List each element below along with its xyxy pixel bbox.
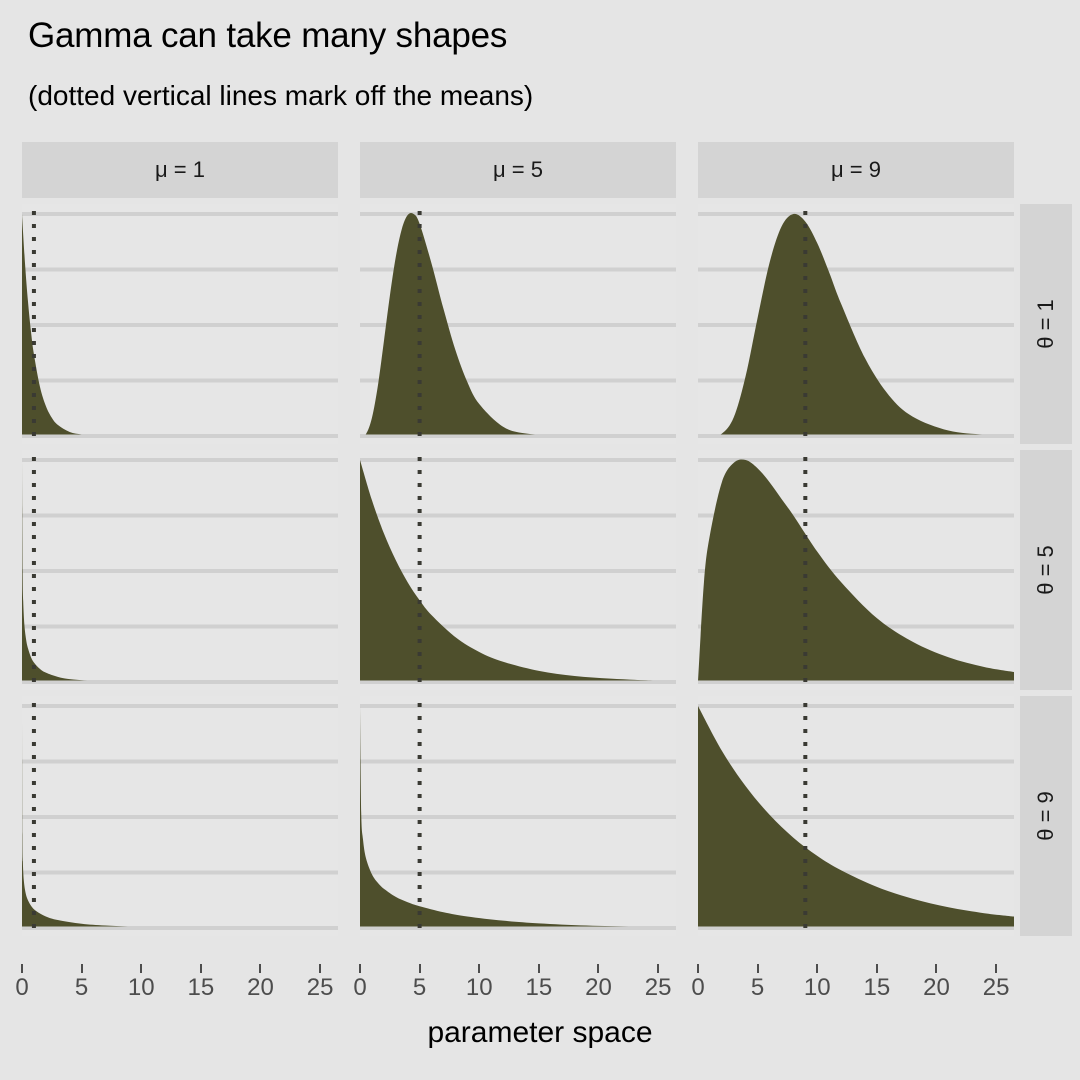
facet-panel-r2-c1 <box>360 696 676 936</box>
density-plot <box>360 204 676 444</box>
x-tick-mark <box>259 964 261 973</box>
gridline <box>22 871 338 875</box>
facet-row-strip-label: θ = 1 <box>1033 299 1059 349</box>
x-tick-mark <box>140 964 142 973</box>
gridline <box>22 268 338 272</box>
gridlines <box>22 704 338 930</box>
x-axis-title: parameter space <box>0 1016 1080 1050</box>
x-tick-label: 25 <box>645 974 672 1002</box>
gridlines <box>22 458 338 684</box>
baseline <box>22 435 338 438</box>
x-tick-mark <box>657 964 659 973</box>
x-tick-label: 15 <box>188 974 215 1002</box>
facet-col-strip-2: μ = 9 <box>698 142 1014 198</box>
baseline <box>360 927 676 930</box>
facet-panel-r1-c1 <box>360 450 676 690</box>
gridline <box>22 458 338 462</box>
x-tick-label: 10 <box>466 974 493 1002</box>
x-tick-label: 0 <box>15 974 28 1002</box>
gridline <box>22 379 338 383</box>
facet-panel-r1-c2 <box>698 450 1014 690</box>
facet-panel-r2-c0 <box>22 696 338 936</box>
x-tick-label: 10 <box>128 974 155 1002</box>
gridline <box>698 212 1014 216</box>
facet-row-strip-label: θ = 5 <box>1033 545 1059 595</box>
x-tick-mark <box>757 964 759 973</box>
gridline <box>22 569 338 573</box>
x-axis-col-2: 0510152025 <box>698 964 1014 1008</box>
x-tick-mark <box>478 964 480 973</box>
density-plot <box>22 696 338 936</box>
x-tick-mark <box>816 964 818 973</box>
x-tick-mark <box>597 964 599 973</box>
x-tick-mark <box>81 964 83 973</box>
baseline <box>22 927 338 930</box>
x-tick-mark <box>935 964 937 973</box>
gridline <box>698 760 1014 764</box>
gridline <box>360 760 676 764</box>
x-tick-label: 0 <box>353 974 366 1002</box>
gridline <box>22 704 338 708</box>
gridline <box>360 871 676 875</box>
x-tick-mark <box>21 964 23 973</box>
x-tick-label: 5 <box>751 974 764 1002</box>
facet-grid: μ = 1μ = 5μ = 9θ = 1θ = 5θ = 9 <box>22 142 1060 964</box>
page-subtitle: (dotted vertical lines mark off the mean… <box>28 80 533 112</box>
baseline <box>698 681 1014 684</box>
x-tick-label: 15 <box>864 974 891 1002</box>
x-tick-label: 20 <box>585 974 612 1002</box>
x-tick-mark <box>876 964 878 973</box>
x-tick-mark <box>419 964 421 973</box>
x-tick-label: 20 <box>923 974 950 1002</box>
x-tick-label: 25 <box>307 974 334 1002</box>
page-title: Gamma can take many shapes <box>28 16 507 56</box>
facet-col-strip-0: μ = 1 <box>22 142 338 198</box>
facet-panel-r1-c0 <box>22 450 338 690</box>
density-plot <box>698 450 1014 690</box>
facet-row-strip-1: θ = 5 <box>1020 450 1072 690</box>
baseline <box>360 681 676 684</box>
x-tick-mark <box>319 964 321 973</box>
gridlines <box>360 704 676 930</box>
x-tick-mark <box>538 964 540 973</box>
x-tick-mark <box>995 964 997 973</box>
x-tick-label: 10 <box>804 974 831 1002</box>
facet-panel-r0-c1 <box>360 204 676 444</box>
baseline <box>698 927 1014 930</box>
density-plot <box>360 696 676 936</box>
facet-panel-r2-c2 <box>698 696 1014 936</box>
facet-row-strip-label: θ = 9 <box>1033 791 1059 841</box>
gridline <box>360 704 676 708</box>
density-plot <box>22 450 338 690</box>
x-tick-label: 5 <box>75 974 88 1002</box>
facet-col-strip-1: μ = 5 <box>360 142 676 198</box>
gridline <box>22 514 338 518</box>
gridline <box>360 569 676 573</box>
x-tick-mark <box>697 964 699 973</box>
facet-panel-r0-c0 <box>22 204 338 444</box>
gridline <box>698 268 1014 272</box>
gridlines <box>22 212 338 438</box>
gridline <box>360 514 676 518</box>
gridline <box>360 212 676 216</box>
gridline <box>360 458 676 462</box>
x-axis-col-1: 0510152025 <box>360 964 676 1008</box>
gridline <box>22 760 338 764</box>
gridline <box>22 323 338 327</box>
density-plot <box>22 204 338 444</box>
x-tick-label: 15 <box>526 974 553 1002</box>
density-plot <box>360 450 676 690</box>
gridline <box>22 625 338 629</box>
gridline <box>22 212 338 216</box>
baseline <box>698 435 1014 438</box>
density-plot <box>698 204 1014 444</box>
gridline <box>360 815 676 819</box>
gridline <box>22 815 338 819</box>
facet-row-strip-0: θ = 1 <box>1020 204 1072 444</box>
x-tick-label: 0 <box>691 974 704 1002</box>
facet-panel-r0-c2 <box>698 204 1014 444</box>
density-plot <box>698 696 1014 936</box>
baseline <box>22 681 338 684</box>
baseline <box>360 435 676 438</box>
x-tick-label: 20 <box>247 974 274 1002</box>
gridline <box>698 704 1014 708</box>
gamma-facet-chart: Gamma can take many shapes (dotted verti… <box>0 0 1080 1080</box>
x-tick-mark <box>359 964 361 973</box>
facet-row-strip-2: θ = 9 <box>1020 696 1072 936</box>
x-tick-label: 25 <box>983 974 1010 1002</box>
x-tick-label: 5 <box>413 974 426 1002</box>
x-axis-col-0: 0510152025 <box>22 964 338 1008</box>
gridline <box>698 323 1014 327</box>
x-tick-mark <box>200 964 202 973</box>
